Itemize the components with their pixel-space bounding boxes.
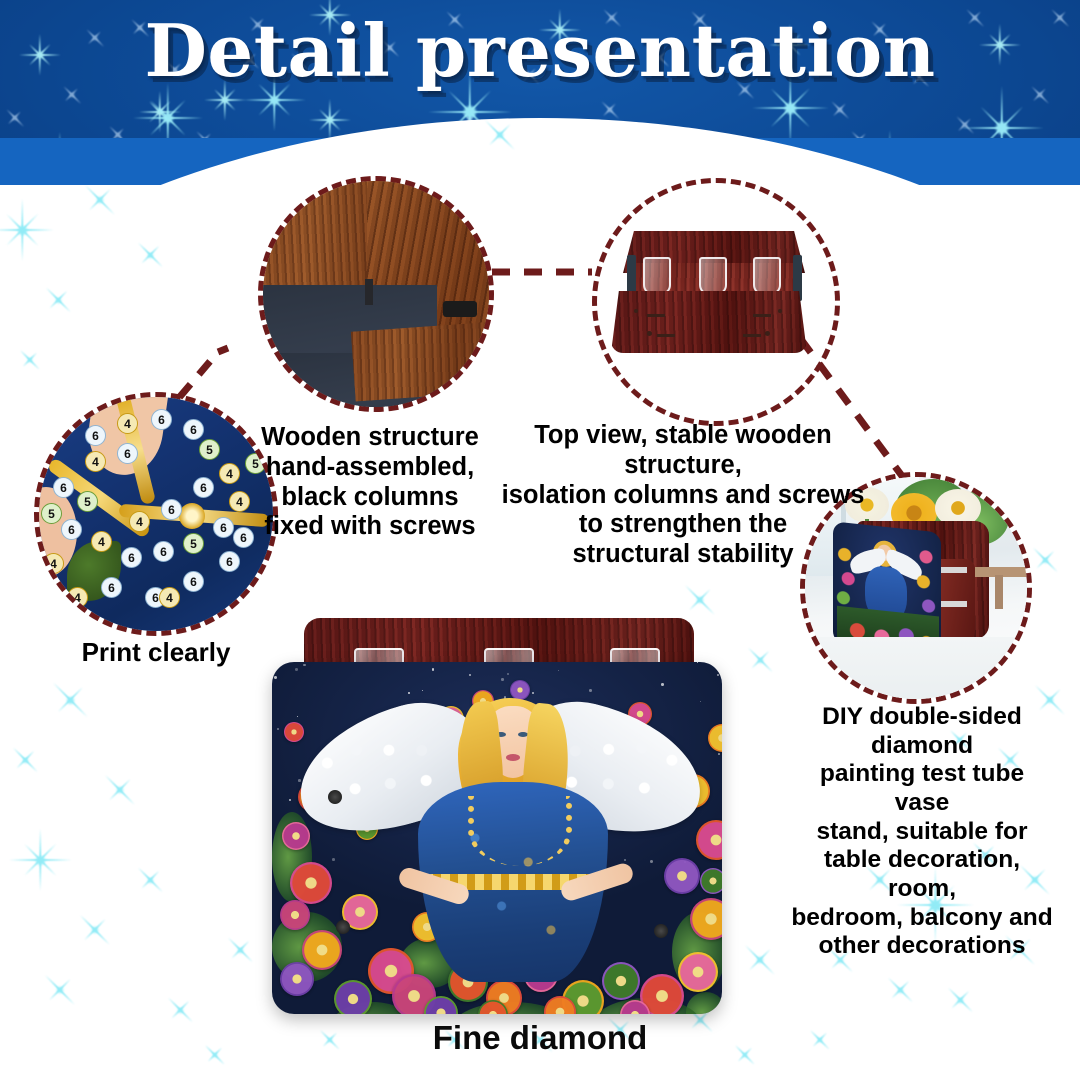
- header-banner: Detail presentation: [0, 0, 1080, 185]
- canvas-screw-left: [328, 790, 342, 804]
- angel-lips: [506, 754, 520, 761]
- canvas-flower: [280, 962, 314, 996]
- caption-print-clearly: Print clearly: [60, 637, 252, 667]
- pattern-symbol: 5: [183, 533, 204, 554]
- pattern-symbol: 6: [161, 499, 182, 520]
- pattern-symbol: 4: [43, 553, 64, 574]
- print-detail-photo: 646646655464466564666466466554: [34, 392, 278, 636]
- pattern-symbol: 4: [85, 451, 106, 472]
- canvas-flower: [602, 962, 640, 1000]
- pattern-symbol: 6: [53, 477, 74, 498]
- pattern-symbol: 6: [61, 519, 82, 540]
- test-tube-1: [643, 257, 671, 295]
- test-tube-3: [753, 257, 781, 295]
- connector-elbow: [218, 348, 228, 352]
- canvas-flower: [664, 858, 700, 894]
- pattern-symbol: 6: [193, 477, 214, 498]
- pattern-symbol: 4: [159, 587, 180, 608]
- canvas-flower: [282, 822, 310, 850]
- screw-slot-1: [647, 314, 665, 317]
- canvas-flower: [280, 900, 310, 930]
- screw-slot-2: [753, 314, 771, 317]
- pattern-symbol: 5: [199, 439, 220, 460]
- inset-top-view[interactable]: [592, 178, 840, 426]
- caption-lifestyle: DIY double-sided diamond painting test t…: [790, 703, 1054, 961]
- pattern-symbol: 6: [213, 517, 234, 538]
- canvas-screw-right: [654, 924, 668, 938]
- screw-2: [778, 309, 782, 313]
- screw-slot: [443, 301, 477, 317]
- screw-1: [634, 309, 638, 313]
- caption-fine-diamond: Fine diamond: [0, 1019, 1080, 1057]
- canvas-flower: [708, 724, 722, 752]
- joint-gap: [365, 279, 373, 305]
- canvas-flower: [290, 862, 332, 904]
- canvas-flower: [334, 980, 372, 1014]
- test-tube-2: [699, 257, 727, 295]
- pattern-symbol: 4: [117, 413, 138, 434]
- screw-slot-3: [657, 334, 675, 337]
- pattern-symbol: 6: [85, 425, 106, 446]
- canvas-flower: [510, 680, 530, 700]
- pattern-symbol: 4: [91, 531, 112, 552]
- product-diamond-canvas: [272, 662, 722, 1014]
- main-product-image[interactable]: [272, 618, 722, 1016]
- pattern-symbol: 6: [121, 547, 142, 568]
- page-title: Detail presentation: [0, 8, 1080, 93]
- pattern-symbol: 4: [229, 491, 250, 512]
- canvas-flower: [696, 820, 722, 860]
- pattern-symbol: 6: [151, 409, 172, 430]
- screw-4: [765, 331, 770, 336]
- pattern-symbol: 6: [183, 419, 204, 440]
- inset-wooden-structure[interactable]: [258, 176, 494, 412]
- infographic-canvas: Detail presentation: [0, 0, 1080, 1080]
- screw-slot-4: [743, 334, 761, 337]
- canvas-flower: [302, 930, 342, 970]
- caption-top-view: Top view, stable wooden structure, isola…: [487, 421, 879, 570]
- inset-print-detail[interactable]: 646646655464466564666466466554: [34, 392, 278, 636]
- pattern-symbol: 6: [219, 551, 240, 572]
- canvas-flower: [284, 722, 304, 742]
- caption-wooden-structure: Wooden structure hand-assembled, black c…: [260, 423, 480, 542]
- pattern-symbol: 6: [117, 443, 138, 464]
- pattern-symbol: 5: [77, 491, 98, 512]
- pattern-symbol: 4: [129, 511, 150, 532]
- screw-3: [647, 331, 652, 336]
- top-view-photo: [597, 183, 835, 421]
- pattern-symbol: 6: [183, 571, 204, 592]
- canvas-flower: [700, 868, 722, 894]
- pattern-symbol: 4: [67, 587, 88, 608]
- dress-neckline-beads: [468, 796, 572, 866]
- pattern-symbol: 4: [219, 463, 240, 484]
- pattern-symbol: 6: [101, 577, 122, 598]
- canvas-screw-bottom-left: [336, 920, 350, 934]
- pattern-symbol: 5: [41, 503, 62, 524]
- pattern-symbol: 6: [153, 541, 174, 562]
- wood-corner-photo: [258, 176, 494, 412]
- pattern-symbol: 6: [233, 527, 254, 548]
- canvas-flower: [678, 952, 718, 992]
